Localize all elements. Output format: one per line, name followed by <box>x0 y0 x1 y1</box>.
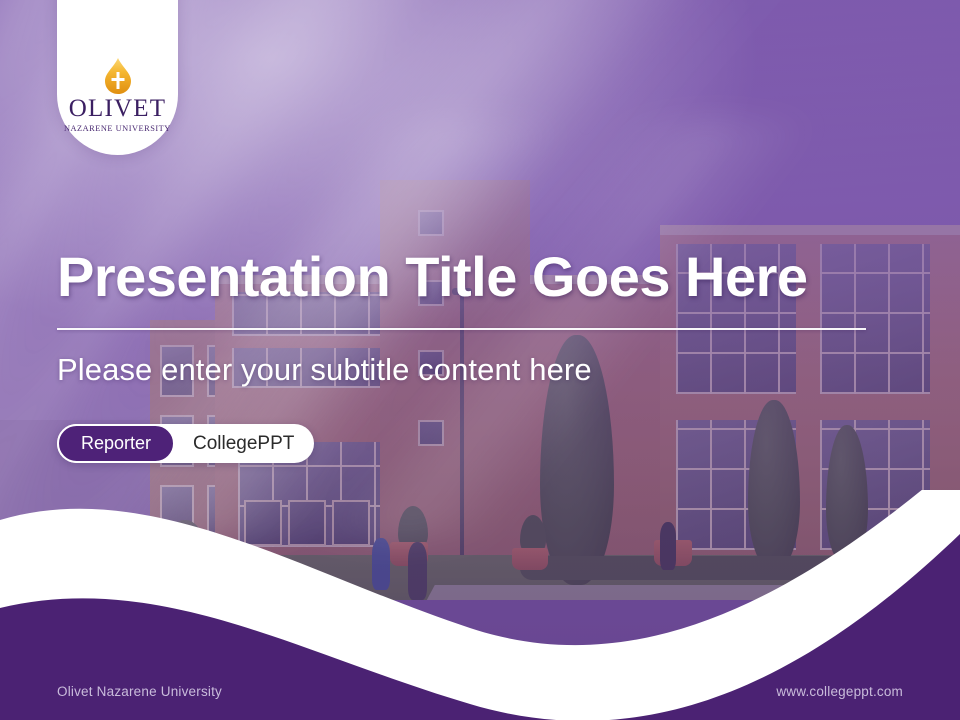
reporter-pill[interactable]: Reporter CollegePPT <box>57 424 314 463</box>
olivet-logo-badge: OLIVET NAZARENE UNIVERSITY <box>57 0 178 155</box>
flame-cross-icon <box>105 58 131 94</box>
title-divider <box>57 328 866 330</box>
page-title: Presentation Title Goes Here <box>57 248 897 307</box>
footer-website[interactable]: www.collegeppt.com <box>776 684 903 699</box>
presentation-slide: OLIVET NAZARENE UNIVERSITY Presentation … <box>0 0 960 720</box>
reporter-label: Reporter <box>57 424 175 463</box>
reporter-name: CollegePPT <box>175 433 294 455</box>
footer-university-name: Olivet Nazarene University <box>57 684 222 699</box>
page-subtitle: Please enter your subtitle content here <box>57 352 592 388</box>
logo-wordmark: OLIVET <box>69 96 166 121</box>
logo-tagline: NAZARENE UNIVERSITY <box>64 124 171 133</box>
